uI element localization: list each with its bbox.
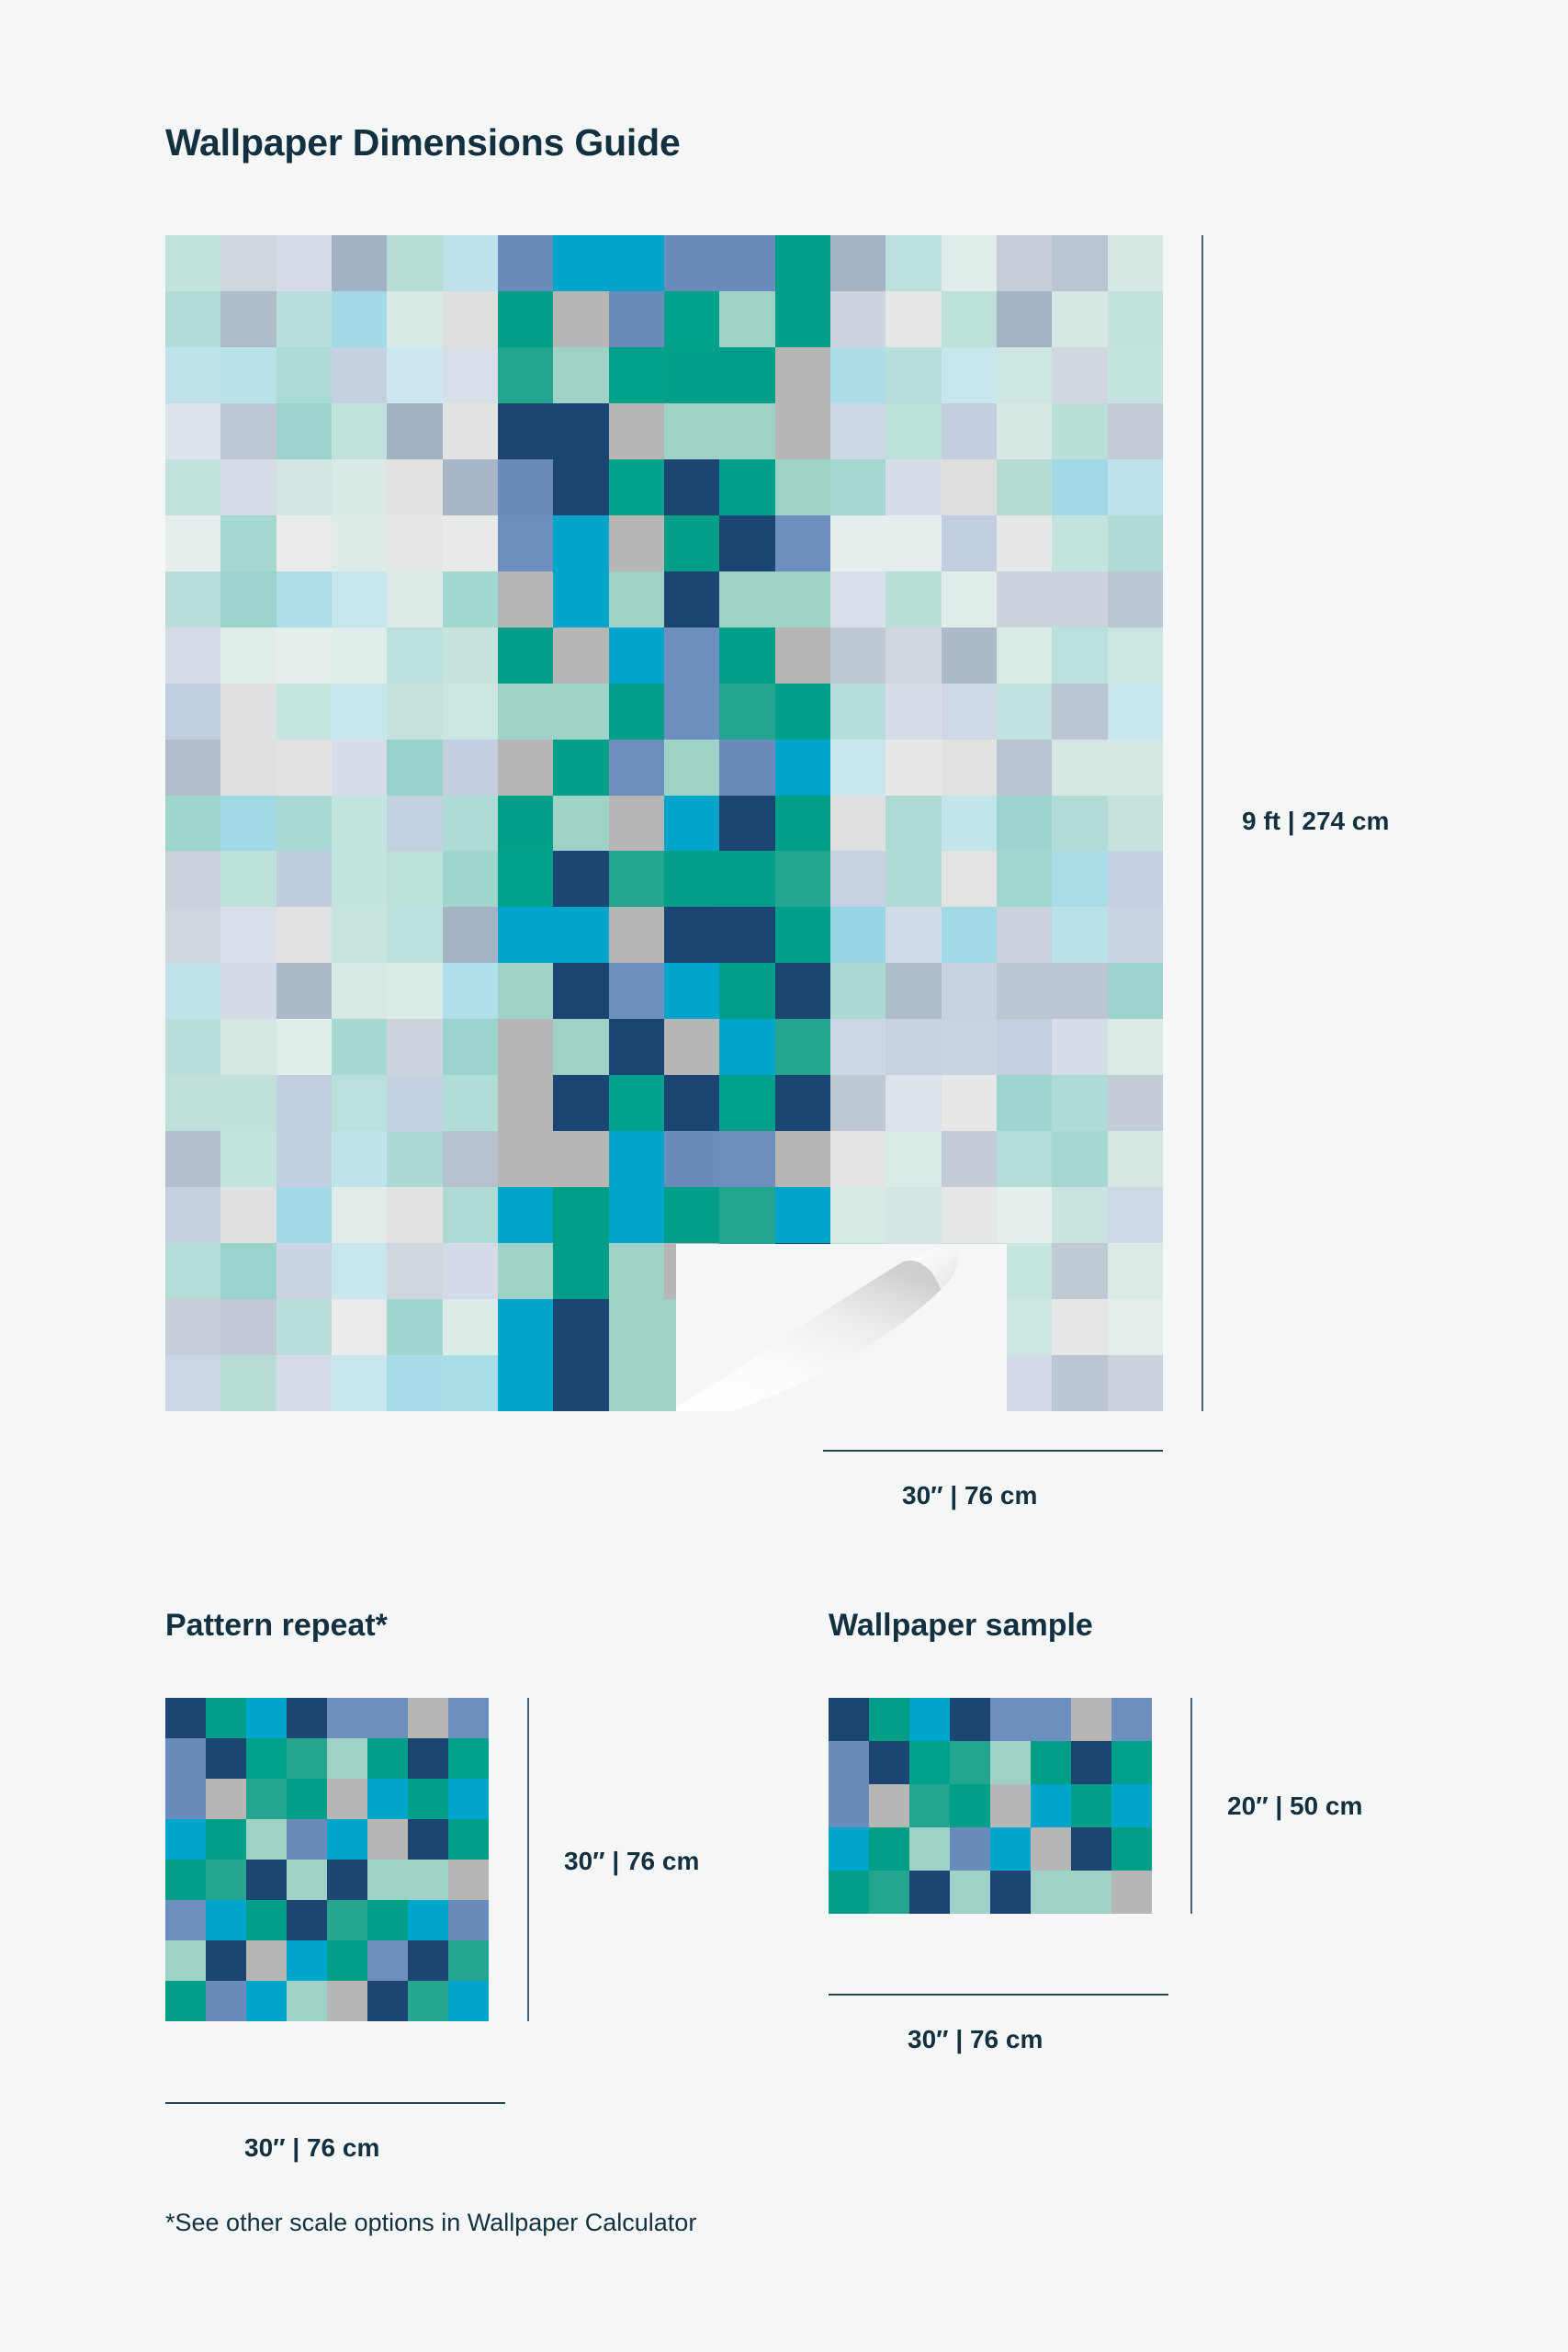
repeat-height-measure-line bbox=[527, 1698, 529, 2021]
pattern-repeat-swatch bbox=[165, 1698, 489, 2021]
section-title-pattern-repeat: Pattern repeat* bbox=[165, 1608, 388, 1644]
hero-width-label: 30″ | 76 cm bbox=[902, 1481, 1037, 1510]
section-title-wallpaper-sample: Wallpaper sample bbox=[829, 1608, 1093, 1644]
hero-height-measure-line bbox=[1201, 235, 1203, 1411]
hero-height-label: 9 ft | 274 cm bbox=[1242, 807, 1389, 836]
sample-width-measure-line bbox=[829, 1994, 1168, 1996]
wallpaper-sample-swatch bbox=[829, 1698, 1152, 1914]
sample-height-measure-line bbox=[1190, 1698, 1192, 1914]
repeat-width-label: 30″ | 76 cm bbox=[244, 2133, 379, 2163]
pattern-repeat-pattern bbox=[165, 1698, 489, 2021]
repeat-height-label: 30″ | 76 cm bbox=[564, 1847, 699, 1876]
sample-width-label: 30″ | 76 cm bbox=[908, 2025, 1043, 2054]
wallpaper-sample-pattern bbox=[829, 1698, 1152, 1914]
page-root: Wallpaper Dimensions Guide bbox=[0, 0, 1568, 2352]
sample-height-label: 20″ | 50 cm bbox=[1227, 1792, 1362, 1821]
hero-width-measure-line bbox=[823, 1450, 1163, 1452]
wallpaper-roll-pattern bbox=[165, 235, 1163, 1411]
repeat-width-measure-line bbox=[165, 2102, 505, 2104]
wallpaper-roll bbox=[165, 235, 1163, 1411]
footnote: *See other scale options in Wallpaper Ca… bbox=[165, 2209, 696, 2237]
curl-cutout bbox=[676, 1244, 1007, 1411]
page-title: Wallpaper Dimensions Guide bbox=[165, 121, 681, 164]
